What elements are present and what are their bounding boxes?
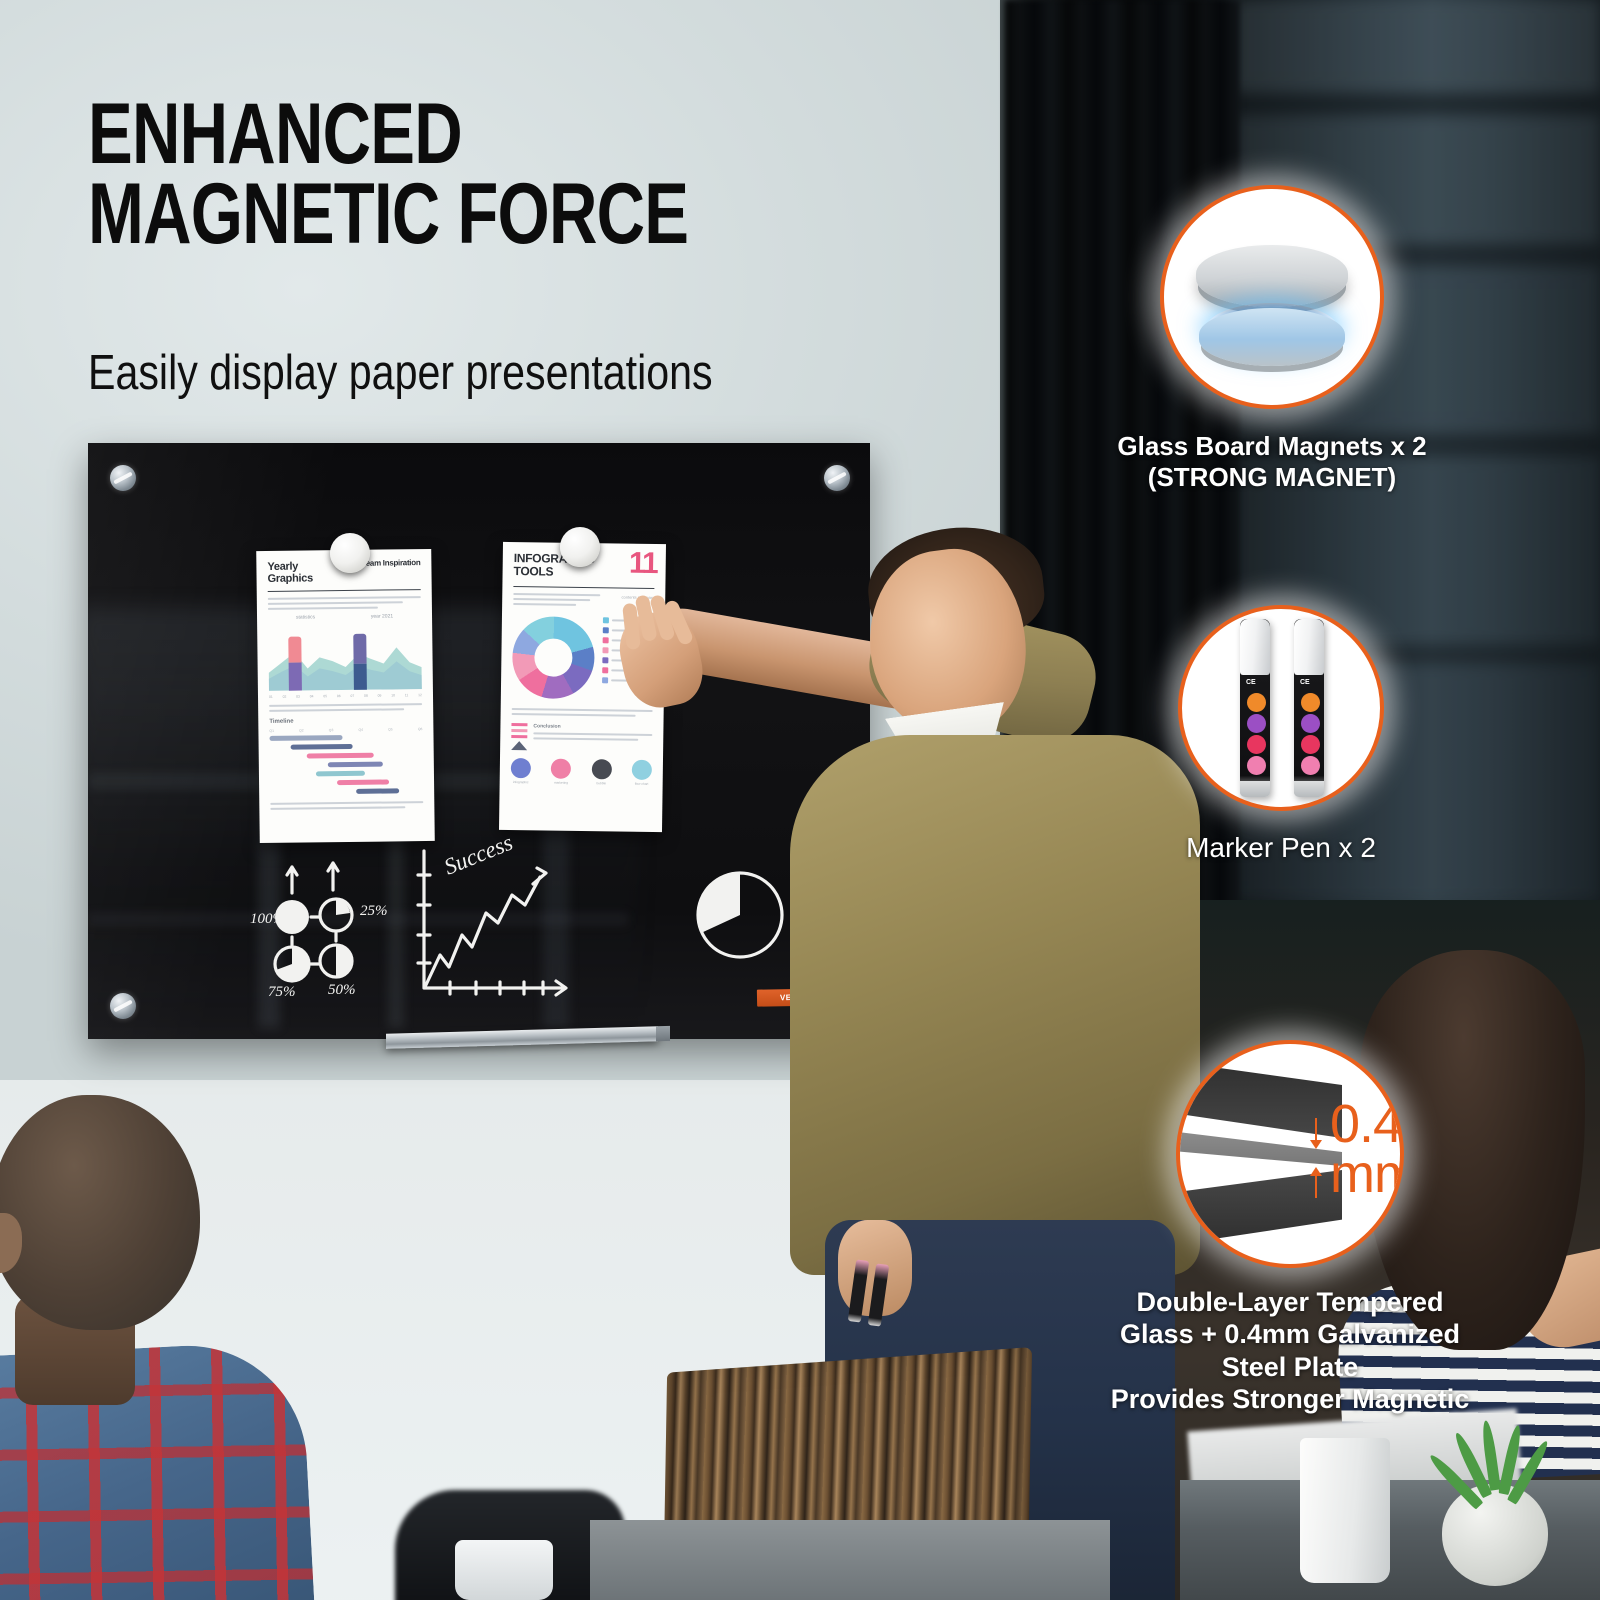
steel-plate-thickness-icon: 0.4 mm: [1176, 1040, 1404, 1268]
callout-thickness-caption-line4: Provides Stronger Magnetic: [1075, 1383, 1505, 1415]
board-magnet-icon[interactable]: [560, 527, 600, 567]
poster1-title-line1: Yearly: [267, 561, 298, 573]
callout-thickness-caption-line2: Glass + 0.4mm Galvanized: [1075, 1318, 1505, 1350]
white-cup: [1300, 1438, 1390, 1583]
poster1-area-chart: 010203040506 070809101112: [268, 623, 422, 699]
conference-table-left: [590, 1520, 1110, 1600]
poster1-gantt-header: Timeline: [269, 717, 422, 725]
plaid-man-head: [0, 1095, 200, 1330]
poster1-gantt-chart: Timeline Q1Q2Q3Q4Q5Q6: [269, 717, 423, 795]
callout-thickness[interactable]: 0.4 mm Double-Layer Tempered Glass + 0.4…: [1176, 1040, 1505, 1416]
presenter-sweater: [790, 735, 1200, 1275]
poster2-title-line2: TOOLS: [514, 564, 554, 579]
callout-thickness-caption-line1: Double-Layer Tempered: [1075, 1286, 1505, 1318]
thickness-arrows-icon: [1308, 1118, 1324, 1198]
potted-plant: [1442, 1484, 1548, 1586]
callout-thickness-caption-line3: Steel Plate: [1075, 1351, 1505, 1383]
poster1-chart-caption-right: year 2021: [371, 614, 393, 620]
poster-yearly-graphics[interactable]: Yearly Graphics Team Inspiration statist…: [256, 549, 435, 843]
marker-pens-icon: CE CE: [1178, 605, 1384, 811]
table-cup-left: [455, 1540, 553, 1600]
page-headline: ENHANCED MAGNETIC FORCE: [88, 95, 774, 255]
poster2-icon-row: infographic marketing bubble flow chart: [511, 758, 652, 786]
seated-man-plaid: [0, 1095, 390, 1600]
mounting-screw-icon: [110, 993, 136, 1019]
poster1-chart-caption-left: statistics: [296, 615, 315, 621]
callout-markers[interactable]: CE CE: [1178, 605, 1481, 865]
board-magnet-icon[interactable]: [330, 533, 370, 573]
mounting-screw-icon: [110, 465, 136, 491]
thickness-unit: mm: [1330, 1150, 1404, 1200]
callout-markers-caption-line1: Marker Pen x 2: [1081, 831, 1481, 865]
callout-magnets[interactable]: Glass Board Magnets x 2 (STRONG MAGNET): [1160, 185, 1487, 493]
poster1-axis-ticks: 010203040506 070809101112: [269, 693, 422, 699]
page-subheadline: Easily display paper presentations: [88, 345, 844, 401]
magnet-discs-icon: [1160, 185, 1384, 409]
thickness-value: 0.4: [1330, 1100, 1404, 1150]
callout-magnets-caption-line2: (STRONG MAGNET): [1057, 462, 1487, 493]
callout-magnets-caption-line1: Glass Board Magnets x 2: [1057, 431, 1487, 462]
mounting-screw-icon: [824, 465, 850, 491]
poster1-title-line2: Graphics: [267, 573, 312, 586]
poster1-title-dim: Team Inspiration: [362, 559, 421, 569]
marketing-image-canvas: Yearly Graphics Team Inspiration statist…: [0, 0, 1600, 1600]
